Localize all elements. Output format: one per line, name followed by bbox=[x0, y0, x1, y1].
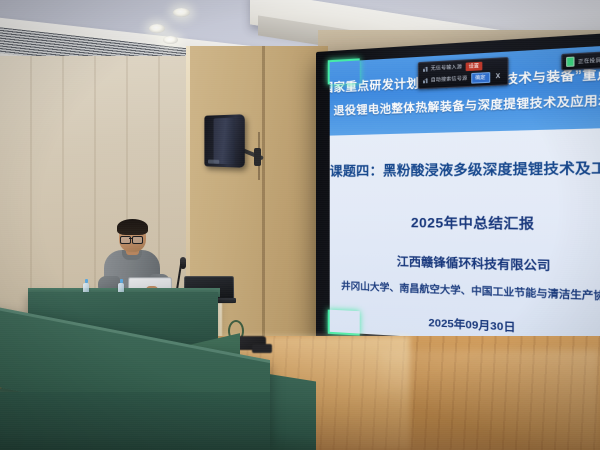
osd-signal-label: 无信号输入源 bbox=[431, 64, 462, 72]
slide-partner-list: 井冈山大学、南昌航空大学、中国工业节能与清洁生产协会 bbox=[330, 277, 600, 304]
close-icon[interactable]: X bbox=[493, 74, 502, 81]
conference-room-photo: 国家重点研发计划“循环经济关键技术与装备”重点专项 退役锂电池整体热解装备与深度… bbox=[0, 0, 600, 450]
speaker-badge bbox=[208, 160, 219, 164]
osd-settings-chip[interactable]: 设置 bbox=[465, 62, 482, 71]
osd-row-autoscan[interactable]: 自动搜索信号源 确定 X bbox=[423, 71, 502, 86]
wall-speaker bbox=[204, 114, 244, 168]
speaker-grille-icon bbox=[214, 118, 235, 165]
foreground-table-a-front bbox=[0, 392, 270, 450]
slide-company-name: 江西赣锋循环科技有限公司 bbox=[330, 251, 600, 276]
speaker-bracket-plate bbox=[254, 148, 261, 166]
slide-header-band: 国家重点研发计划“循环经济关键技术与装备”重点专项 退役锂电池整体热解装备与深度… bbox=[330, 44, 600, 135]
floor-light-reflection bbox=[380, 350, 600, 450]
display-screen[interactable]: 国家重点研发计划“循环经济关键技术与装备”重点专项 退役锂电池整体热解装备与深度… bbox=[330, 44, 600, 350]
glasses-icon bbox=[132, 236, 143, 244]
floor-equipment bbox=[252, 344, 272, 353]
osd-confirm-chip[interactable]: 确定 bbox=[471, 72, 490, 84]
battery-icon bbox=[566, 57, 574, 67]
slide-project-title: 退役锂电池整体热解装备与深度提锂技术及应用示范 bbox=[334, 90, 600, 118]
osd-cast-label: 正在投屏 bbox=[578, 57, 600, 65]
refresh-icon bbox=[423, 78, 427, 83]
downlight-icon bbox=[163, 36, 178, 44]
osd-cast-panel[interactable]: 正在投屏 bbox=[561, 51, 600, 70]
downlight-icon bbox=[149, 24, 165, 33]
osd-row-signal[interactable]: 无信号输入源 设置 bbox=[423, 62, 482, 74]
downlight-icon bbox=[173, 8, 190, 17]
slide-report-title: 2025年中总结汇报 bbox=[330, 211, 600, 235]
presenter-hair bbox=[117, 219, 148, 235]
wall-seam bbox=[262, 46, 265, 366]
presentation-display[interactable]: 国家重点研发计划“循环经济关键技术与装备”重点专项 退役锂电池整体热解装备与深度… bbox=[316, 31, 600, 363]
glasses-bridge bbox=[129, 238, 133, 239]
presentation-slide: 国家重点研发计划“循环经济关键技术与装备”重点专项 退役锂电池整体热解装备与深度… bbox=[330, 44, 600, 350]
signal-icon bbox=[423, 66, 427, 71]
osd-source-panel[interactable]: 无信号输入源 设置 自动搜索信号源 确定 X bbox=[418, 57, 508, 89]
slide-topic-line: 课题四：黑粉酸浸液多级深度提锂技术及工程示范 bbox=[330, 156, 600, 180]
osd-autoscan-label: 自动搜索信号源 bbox=[431, 75, 468, 83]
